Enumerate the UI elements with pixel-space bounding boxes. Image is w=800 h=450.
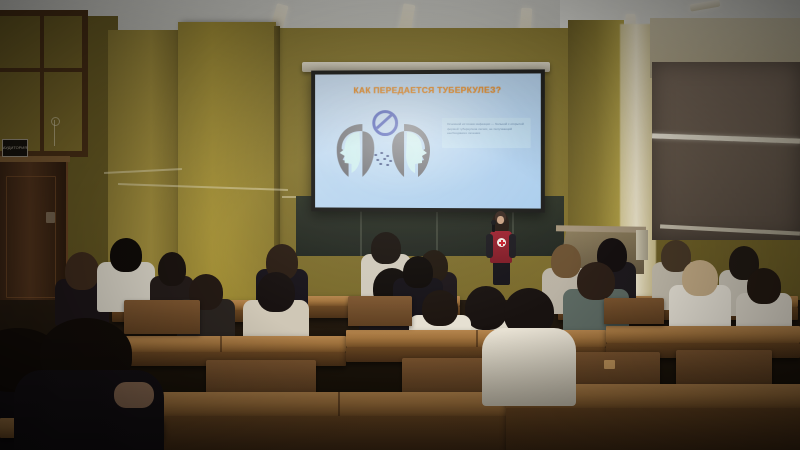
door-sign-plaque: АУДИТОРИЯ — [2, 139, 28, 157]
presentation-slide: КАК ПЕРЕДАЕТСЯ ТУБЕРКУЛЕЗ? — [315, 73, 541, 208]
desk-row-front-left-front — [150, 416, 510, 450]
student-hair — [403, 256, 433, 288]
right-chalkboard — [652, 62, 800, 240]
red-cross-emblem-icon — [497, 238, 506, 247]
presenter-sleeve — [509, 234, 516, 258]
presenter-face — [497, 216, 504, 224]
student-white-sweater — [480, 288, 576, 398]
projection-screen: КАК ПЕРЕДАЕТСЯ ТУБЕРКУЛЕЗ? — [311, 69, 545, 212]
student-hair — [682, 260, 718, 296]
student-hair — [65, 252, 99, 290]
presenter — [484, 211, 518, 283]
student-torso — [482, 328, 576, 406]
chair-badge — [604, 360, 615, 369]
chair[interactable] — [676, 350, 772, 388]
left-wall-window — [0, 10, 88, 157]
wall-hook — [54, 120, 55, 146]
student-hair — [110, 238, 142, 272]
window-mullion — [40, 16, 44, 151]
desk-seam — [476, 330, 478, 347]
lectern-post — [636, 230, 648, 260]
chair[interactable] — [604, 298, 664, 324]
desk-seam — [338, 392, 340, 416]
window-mullion — [0, 68, 82, 72]
desk-row-front-left — [150, 392, 510, 416]
slide-illustration — [333, 108, 436, 182]
student-foreground — [10, 318, 160, 450]
presenter-sleeve — [486, 234, 493, 258]
slide-title: КАК ПЕРЕДАЕТСЯ ТУБЕРКУЛЕЗ? — [315, 85, 541, 96]
head-silhouette-right-icon — [390, 122, 434, 178]
student-hair — [577, 262, 615, 300]
student-hands — [114, 382, 154, 408]
prohibition-sign-icon — [372, 110, 398, 136]
slide-body-text: Основной источник инфекции — больной с о… — [447, 122, 526, 136]
desk-row-middle-right — [606, 326, 800, 343]
light-switch[interactable] — [46, 212, 55, 223]
microphone-icon — [492, 223, 495, 232]
student-hair — [747, 268, 781, 304]
droplet-spray-icon — [372, 152, 394, 168]
chair[interactable] — [348, 296, 412, 326]
presenter-legs — [493, 261, 510, 285]
desk-row-front-right-front — [506, 408, 800, 450]
student-hair — [257, 272, 295, 312]
desk-seam — [220, 336, 222, 352]
door-sign-text: АУДИТОРИЯ — [3, 146, 27, 150]
door-panel — [6, 176, 56, 298]
slide-text-box: Основной источник инфекции — больной с о… — [442, 118, 531, 148]
head-silhouette-left-icon — [333, 122, 376, 178]
lecture-hall-photo: АУДИТОРИЯ КАК ПЕРЕДАЕТСЯ ТУБЕРКУЛЕЗ? — [0, 0, 800, 450]
student-hair — [422, 290, 458, 326]
